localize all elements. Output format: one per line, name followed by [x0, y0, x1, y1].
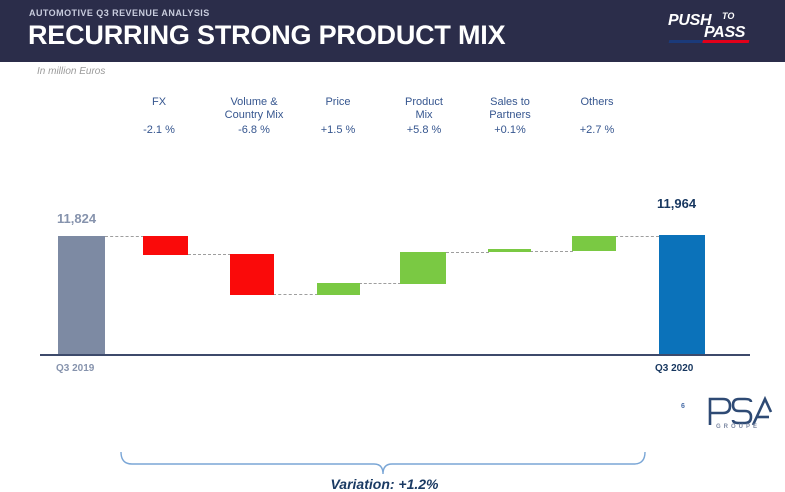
column-value-sales-to-partners: +0.1%	[471, 124, 549, 136]
bar-others[interactable]	[572, 236, 616, 251]
variation-brace-icon	[118, 450, 648, 476]
column-value-price: +1.5 %	[302, 124, 374, 136]
column-header-others-line1: Others	[559, 96, 635, 109]
column-header-volume-line2: Country Mix	[211, 109, 297, 122]
column-header-sales-line1: Sales to	[471, 96, 549, 109]
header-eyebrow: AUTOMOTIVE Q3 REVENUE ANALYSIS	[29, 8, 210, 18]
column-value-others: +2.7 %	[559, 124, 635, 136]
connector-others-end	[615, 236, 659, 237]
bar-sales-to-partners[interactable]	[488, 249, 531, 252]
axis-label-q3-2019: Q3 2019	[56, 363, 94, 374]
push-to-pass-logo: PUSH TO PASS	[662, 10, 767, 52]
column-header-others: Others	[559, 96, 635, 109]
waterfall-chart: 11,824 Q3 2019 11,964 Q3 2020 Variation:…	[0, 160, 785, 400]
column-value-volume-country-mix: -6.8 %	[211, 124, 297, 136]
bar-product-mix[interactable]	[400, 252, 446, 284]
column-value-fx: -2.1 %	[123, 124, 195, 136]
column-header-fx: FX	[123, 96, 195, 109]
units-note: In million Euros	[37, 66, 105, 77]
connector-price-productmix	[359, 283, 401, 284]
bar-price[interactable]	[317, 283, 360, 295]
logo-accent-bar	[669, 40, 750, 43]
slide-root: AUTOMOTIVE Q3 REVENUE ANALYSIS RECURRING…	[0, 0, 785, 436]
column-header-volume-line1: Volume &	[211, 96, 297, 109]
end-value-label: 11,964	[657, 196, 696, 211]
column-header-fx-line1: FX	[123, 96, 195, 109]
bar-fx[interactable]	[143, 236, 188, 255]
page-title: RECURRING STRONG PRODUCT MIX	[28, 20, 505, 51]
column-header-price: Price	[302, 96, 374, 109]
connector-fx-volume	[188, 254, 231, 255]
column-header-price-line1: Price	[302, 96, 374, 109]
psa-logo-subtext: GROUPE	[716, 424, 760, 430]
connector-volume-price	[273, 294, 318, 295]
slide-header: AUTOMOTIVE Q3 REVENUE ANALYSIS RECURRING…	[0, 0, 785, 62]
start-value-label: 11,824	[57, 211, 96, 226]
bar-volume-country-mix[interactable]	[230, 254, 274, 295]
page-number: 6	[681, 403, 685, 410]
chart-baseline	[40, 354, 750, 356]
connector-sales-others	[530, 251, 573, 252]
column-header-sales-to-partners: Sales to Partners	[471, 96, 549, 122]
column-header-product-mix-line2: Mix	[388, 109, 460, 122]
column-header-volume-country-mix: Volume & Country Mix	[211, 96, 297, 122]
bar-q3-2019[interactable]	[58, 236, 105, 354]
connector-start-fx	[105, 236, 144, 237]
connector-productmix-sales	[446, 252, 489, 253]
column-value-product-mix: +5.8 %	[388, 124, 460, 136]
column-header-product-mix-line1: Product	[388, 96, 460, 109]
variation-label: Variation: +1.2%	[122, 476, 647, 492]
logo-text-to: TO	[722, 11, 734, 21]
bar-q3-2020[interactable]	[659, 235, 705, 354]
axis-label-q3-2020: Q3 2020	[655, 363, 693, 374]
column-header-product-mix: Product Mix	[388, 96, 460, 122]
column-header-sales-line2: Partners	[471, 109, 549, 122]
